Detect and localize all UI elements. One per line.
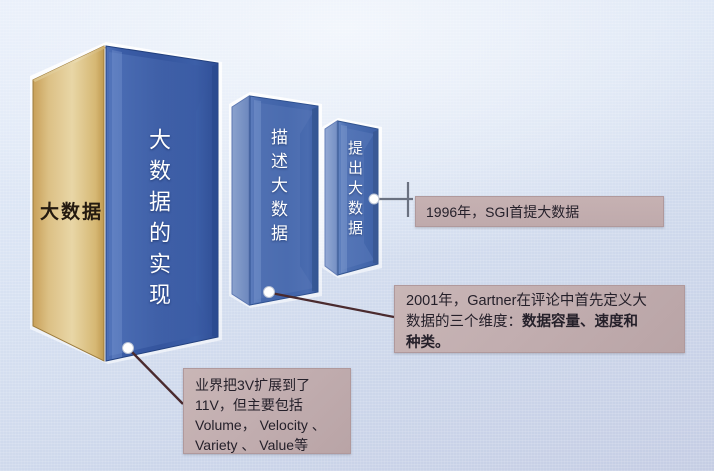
block-3-side-face [325, 121, 337, 275]
callout-2001[interactable]: 2001年，Gartner在评论中首先定义大 数据的三个维度：数据容量、速度和 … [394, 285, 685, 353]
block-2-right-edge [312, 107, 318, 292]
block-1-group[interactable] [30, 42, 222, 364]
callout-2001-line-3: 种类。 [406, 333, 675, 354]
block-3-specular [341, 125, 347, 273]
callout-3v-line-4: Variety 、 Value等 [195, 435, 342, 455]
callout-2001-line-2-bold: 数据容量、速度和 [522, 314, 638, 330]
callout-3v-line-3: Volume， Velocity 、 [195, 415, 342, 435]
block-2-group[interactable] [229, 92, 322, 308]
callout-3v-line-1: 业界把3V扩展到了 [195, 375, 342, 395]
callout-2001-line-2: 数据的三个维度：数据容量、速度和 [406, 312, 675, 333]
connector-block2-dot [264, 287, 275, 298]
connector-block1-dot [123, 343, 134, 354]
diagram-svg [0, 0, 714, 471]
block-2-specular [254, 100, 261, 303]
callout-1996-line-1: 1996年，SGI首提大数据 [426, 201, 653, 224]
block-2-side-face [232, 96, 249, 305]
block-1-right-edge [212, 64, 218, 337]
connector-block3-dot [369, 194, 379, 204]
block-1-side-face [33, 46, 104, 361]
slide-canvas: 大数据 大数据的实现 描述大数据 提出大数据 1996年，SGI首提大数据 20… [0, 0, 714, 471]
callout-3v[interactable]: 业界把3V扩展到了 11V，但主要包括 Volume， Velocity 、 V… [183, 368, 351, 454]
callout-2001-line-2-normal: 数据的三个维度： [406, 314, 522, 330]
callout-2001-line-1: 2001年，Gartner在评论中首先定义大 [406, 291, 675, 312]
block-1-specular [112, 50, 122, 359]
callout-1996[interactable]: 1996年，SGI首提大数据 [415, 196, 664, 227]
callout-3v-line-2: 11V，但主要包括 [195, 395, 342, 415]
